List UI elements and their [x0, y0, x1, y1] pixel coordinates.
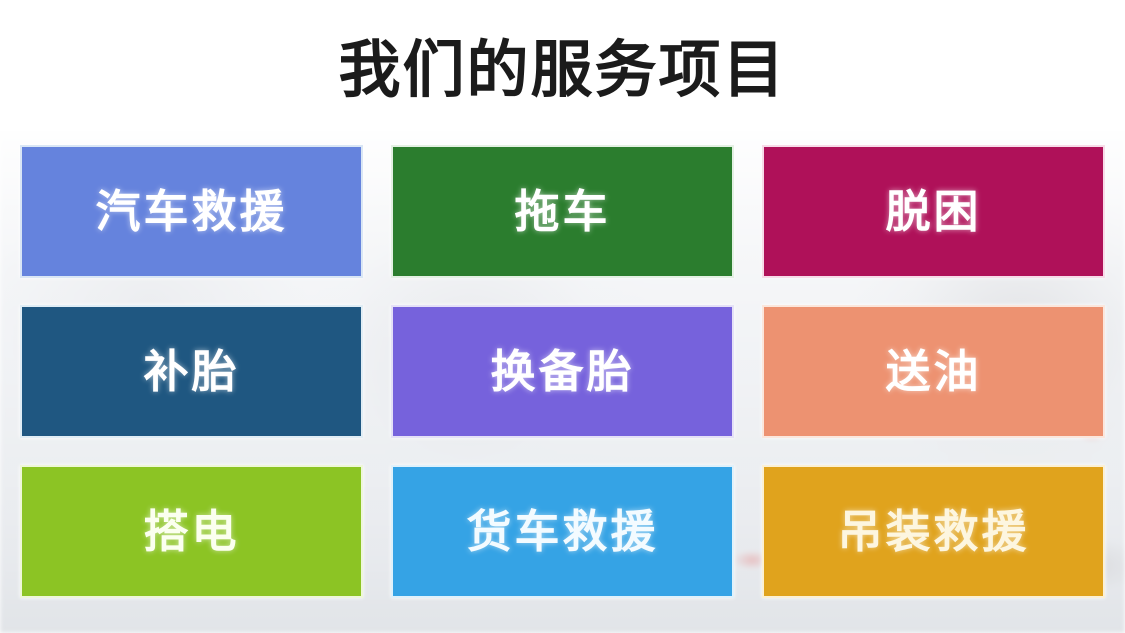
service-tile[interactable]: 汽车救援 [20, 145, 363, 278]
poster-header: 我们的服务项目 [0, 0, 1125, 131]
service-tile[interactable]: 送油 [762, 305, 1105, 438]
service-tile-label: 汽车救援 [95, 189, 287, 234]
service-tile[interactable]: 换备胎 [391, 305, 734, 438]
service-tile[interactable]: 脱困 [762, 145, 1105, 278]
service-tile-label: 货车救援 [466, 509, 658, 554]
service-tile[interactable]: 拖车 [391, 145, 734, 278]
service-tile-label: 送油 [885, 349, 981, 394]
service-tile-label: 拖车 [514, 189, 610, 234]
service-tile-grid: 汽车救援拖车脱困补胎换备胎送油搭电货车救援吊装救援 [20, 145, 1105, 598]
service-tile-label: 搭电 [143, 509, 239, 554]
service-tile-label: 脱困 [885, 189, 981, 234]
service-tile-label: 吊装救援 [837, 509, 1029, 554]
service-tile[interactable]: 吊装救援 [762, 465, 1105, 598]
service-tile[interactable]: 搭电 [20, 465, 363, 598]
service-tile[interactable]: 货车救援 [391, 465, 734, 598]
service-tile-label: 换备胎 [490, 349, 634, 394]
service-tile-label: 补胎 [143, 349, 239, 394]
page-title: 我们的服务项目 [338, 31, 786, 101]
service-tile[interactable]: 补胎 [20, 305, 363, 438]
service-poster: 我们的服务项目 汽车救援拖车脱困补胎换备胎送油搭电货车救援吊装救援 [0, 0, 1125, 633]
